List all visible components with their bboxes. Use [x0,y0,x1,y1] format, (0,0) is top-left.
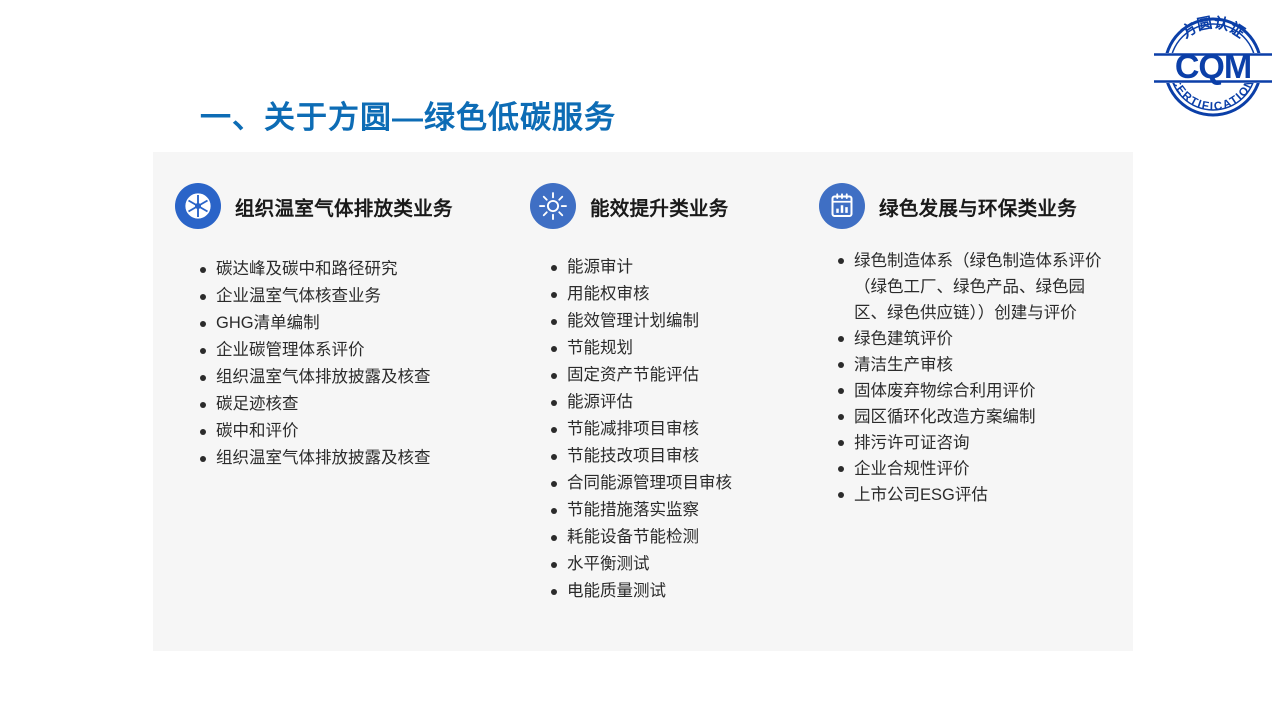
list-item: 绿色制造体系（绿色制造体系评价（绿色工厂、绿色产品、绿色园区、绿色供应链））创建… [837,248,1105,326]
list-item: 排污许可证咨询 [837,430,1105,456]
service-list-energy-efficiency: 能源审计 用能权审核 能效管理计划编制 节能规划 固定资产节能评估 能源评估 节… [550,254,813,605]
list-item: GHG清单编制 [199,310,513,337]
list-item: 园区循环化改造方案编制 [837,404,1105,430]
list-item: 用能权审核 [550,281,813,308]
list-item: 上市公司ESG评估 [837,482,1105,508]
list-item: 清洁生产审核 [837,352,1105,378]
column-heading-label: 能效提升类业务 [590,192,729,221]
cqm-certification-logo: 方圆认证 CERTIFICATION CQM [1152,6,1274,128]
calendar-chart-icon [819,183,865,229]
column-heading-label: 绿色发展与环保类业务 [879,192,1077,221]
service-list-greenhouse-gas: 碳达峰及碳中和路径研究 企业温室气体核查业务 GHG清单编制 企业碳管理体系评价… [199,256,513,472]
list-item: 绿色建筑评价 [837,326,1105,352]
list-item: 节能技改项目审核 [550,443,813,470]
list-item: 节能规划 [550,335,813,362]
list-item: 碳中和评价 [199,418,513,445]
sun-icon [530,183,576,229]
service-columns: 组织温室气体排放类业务 碳达峰及碳中和路径研究 企业温室气体核查业务 GHG清单… [153,152,1133,651]
list-item: 水平衡测试 [550,551,813,578]
list-item: 耗能设备节能检测 [550,524,813,551]
list-item: 固定资产节能评估 [550,362,813,389]
column-header: 能效提升类业务 [530,182,813,230]
aperture-icon [175,183,221,229]
list-item: 节能措施落实监察 [550,497,813,524]
page-title: 一、关于方圆—绿色低碳服务 [200,92,616,137]
list-item: 能源审计 [550,254,813,281]
column-greenhouse-gas: 组织温室气体排放类业务 碳达峰及碳中和路径研究 企业温室气体核查业务 GHG清单… [153,152,513,651]
list-item: 节能减排项目审核 [550,416,813,443]
list-item: 企业合规性评价 [837,456,1105,482]
service-list-green-development: 绿色制造体系（绿色制造体系评价（绿色工厂、绿色产品、绿色园区、绿色供应链））创建… [837,248,1105,508]
list-item: 碳足迹核查 [199,391,513,418]
column-heading-label: 组织温室气体排放类业务 [235,192,453,221]
slide-canvas: 方圆认证 CERTIFICATION CQM 一、关于方圆—绿色低碳服务 [0,0,1280,720]
list-item: 碳达峰及碳中和路径研究 [199,256,513,283]
content-panel: 组织温室气体排放类业务 碳达峰及碳中和路径研究 企业温室气体核查业务 GHG清单… [153,152,1133,651]
list-item: 企业碳管理体系评价 [199,337,513,364]
list-item: 能源评估 [550,389,813,416]
list-item: 企业温室气体核查业务 [199,283,513,310]
list-item: 电能质量测试 [550,578,813,605]
list-item: 能效管理计划编制 [550,308,813,335]
column-header: 组织温室气体排放类业务 [175,182,513,230]
column-green-development: 绿色发展与环保类业务 绿色制造体系（绿色制造体系评价（绿色工厂、绿色产品、绿色园… [813,152,1133,651]
column-header: 绿色发展与环保类业务 [819,182,1133,230]
list-item: 组织温室气体排放披露及核查 [199,364,513,391]
list-item: 固体废弃物综合利用评价 [837,378,1105,404]
list-item: 合同能源管理项目审核 [550,470,813,497]
list-item: 组织温室气体排放披露及核查 [199,445,513,472]
column-energy-efficiency: 能效提升类业务 能源审计 用能权审核 能效管理计划编制 节能规划 固定资产节能评… [513,152,813,651]
